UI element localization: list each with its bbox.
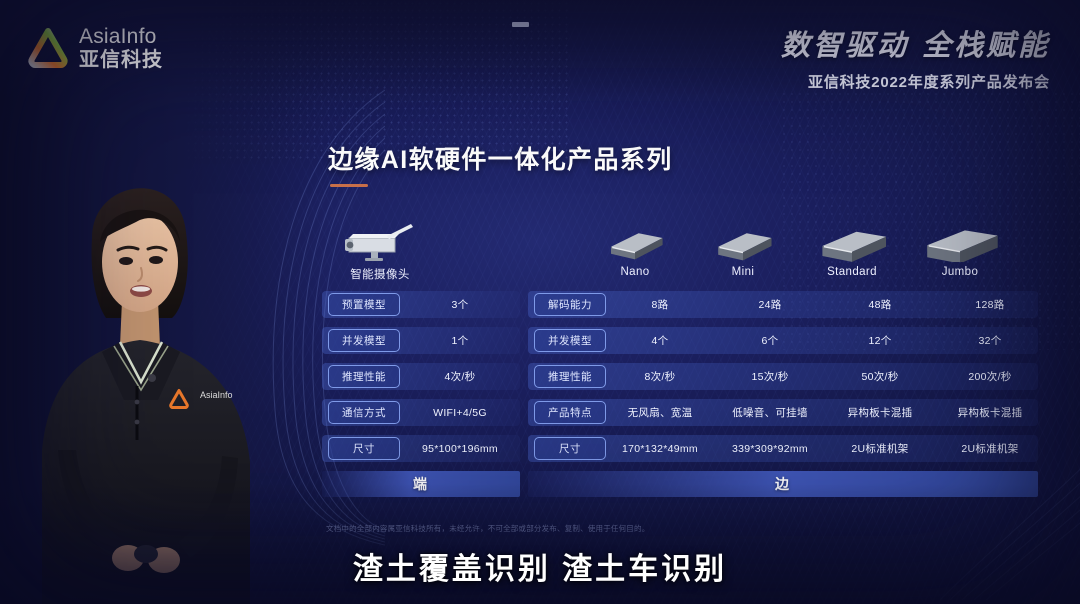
table-row: 预置模型3个 [322, 291, 520, 318]
spec-value: 4个 [610, 333, 710, 348]
spec-value: 15次/秒 [720, 369, 820, 384]
product-label: Nano [580, 266, 690, 278]
video-caption: 渣土覆盖识别 渣土车识别 [0, 544, 1080, 588]
brand-logo: AsiaInfo 亚信科技 [26, 26, 163, 70]
product-label: Standard [797, 266, 907, 278]
brand-name-cn: 亚信科技 [79, 50, 163, 70]
spec-label: 并发模型 [534, 329, 606, 352]
spec-value: 48路 [830, 297, 930, 312]
product-label: Jumbo [905, 266, 1015, 278]
table-row: 产品特点无风扇、宽温低噪音、可挂墙异构板卡混插异构板卡混插 [528, 399, 1038, 426]
spec-value: 95*100*196mm [404, 443, 516, 455]
server-rack-icon [797, 216, 907, 262]
server-rack-icon [905, 216, 1015, 262]
event-subtitle: 亚信科技2022年度系列产品发布会 [781, 71, 1050, 92]
spec-value: 8路 [610, 297, 710, 312]
window-minimize-indicator[interactable] [512, 22, 529, 27]
product-camera: 智能摄像头 [320, 216, 440, 282]
product-jumbo: Jumbo [905, 216, 1015, 278]
table-row: 并发模型4个6个12个32个 [528, 327, 1038, 354]
spec-value: 200次/秒 [940, 369, 1040, 384]
spec-value: 1个 [404, 333, 516, 348]
spec-label: 尺寸 [328, 437, 400, 460]
table-row: 推理性能8次/秒15次/秒50次/秒200次/秒 [528, 363, 1038, 390]
spec-value: 4次/秒 [404, 369, 516, 384]
product-mini: Mini [688, 216, 798, 278]
table-row: 尺寸95*100*196mm [322, 435, 520, 462]
product-label: Mini [688, 266, 798, 278]
spec-value: 8次/秒 [610, 369, 710, 384]
spec-value: WIFI+4/5G [404, 407, 516, 419]
table-row: 解码能力8路24路48路128路 [528, 291, 1038, 318]
product-header-row: 智能摄像头 Nano Mini Standard Jumbo [300, 216, 1060, 288]
screen: AsiaInfo 亚信科技 数智驱动 全栈赋能 亚信科技2022年度系列产品发布… [0, 0, 1080, 604]
spec-value: 339*309*92mm [720, 443, 820, 455]
spec-label: 产品特点 [534, 401, 606, 424]
event-slogan-block: 数智驱动 全栈赋能 亚信科技2022年度系列产品发布会 [781, 22, 1050, 92]
spec-value: 异构板卡混插 [940, 405, 1040, 420]
product-label: 智能摄像头 [320, 266, 440, 282]
product-nano: Nano [580, 216, 690, 278]
spec-value: 异构板卡混插 [830, 405, 930, 420]
spec-value: 32个 [940, 333, 1040, 348]
title-underline [330, 184, 368, 187]
spec-value: 170*132*49mm [610, 443, 710, 455]
spec-value: 128路 [940, 297, 1040, 312]
product-standard: Standard [797, 216, 907, 278]
table-row: 并发模型1个 [322, 327, 520, 354]
presenter-badge-label: AsiaInfo [200, 390, 233, 400]
spec-value: 12个 [830, 333, 930, 348]
spec-label: 推理性能 [328, 365, 400, 388]
spec-value: 2U标准机架 [940, 441, 1040, 456]
spec-label: 解码能力 [534, 293, 606, 316]
spec-value: 无风扇、宽温 [610, 405, 710, 420]
table-row: 尺寸170*132*49mm339*309*92mm2U标准机架2U标准机架 [528, 435, 1038, 462]
security-camera-icon [320, 216, 440, 262]
table-row: 推理性能4次/秒 [322, 363, 520, 390]
slide-title: 边缘AI软硬件一体化产品系列 [328, 140, 673, 176]
spec-value: 2U标准机架 [830, 441, 930, 456]
server-box-icon [580, 216, 690, 262]
spec-value: 24路 [720, 297, 820, 312]
spec-label: 通信方式 [328, 401, 400, 424]
spec-label: 预置模型 [328, 293, 400, 316]
asiainfo-ring-logo-icon [26, 26, 70, 70]
spec-value: 6个 [720, 333, 820, 348]
brand-name-en: AsiaInfo [79, 26, 163, 47]
spec-label: 尺寸 [534, 437, 606, 460]
presentation-slide: 边缘AI软硬件一体化产品系列 智能摄像头 Nano Mini Standard … [300, 108, 1060, 538]
table-row: 通信方式WIFI+4/5G [322, 399, 520, 426]
event-slogan: 数智驱动 全栈赋能 [781, 22, 1050, 64]
spec-label: 并发模型 [328, 329, 400, 352]
server-box-icon [688, 216, 798, 262]
spec-value: 3个 [404, 297, 516, 312]
spec-label: 推理性能 [534, 365, 606, 388]
spec-value: 低噪音、可挂墙 [720, 405, 820, 420]
spec-value: 50次/秒 [830, 369, 930, 384]
